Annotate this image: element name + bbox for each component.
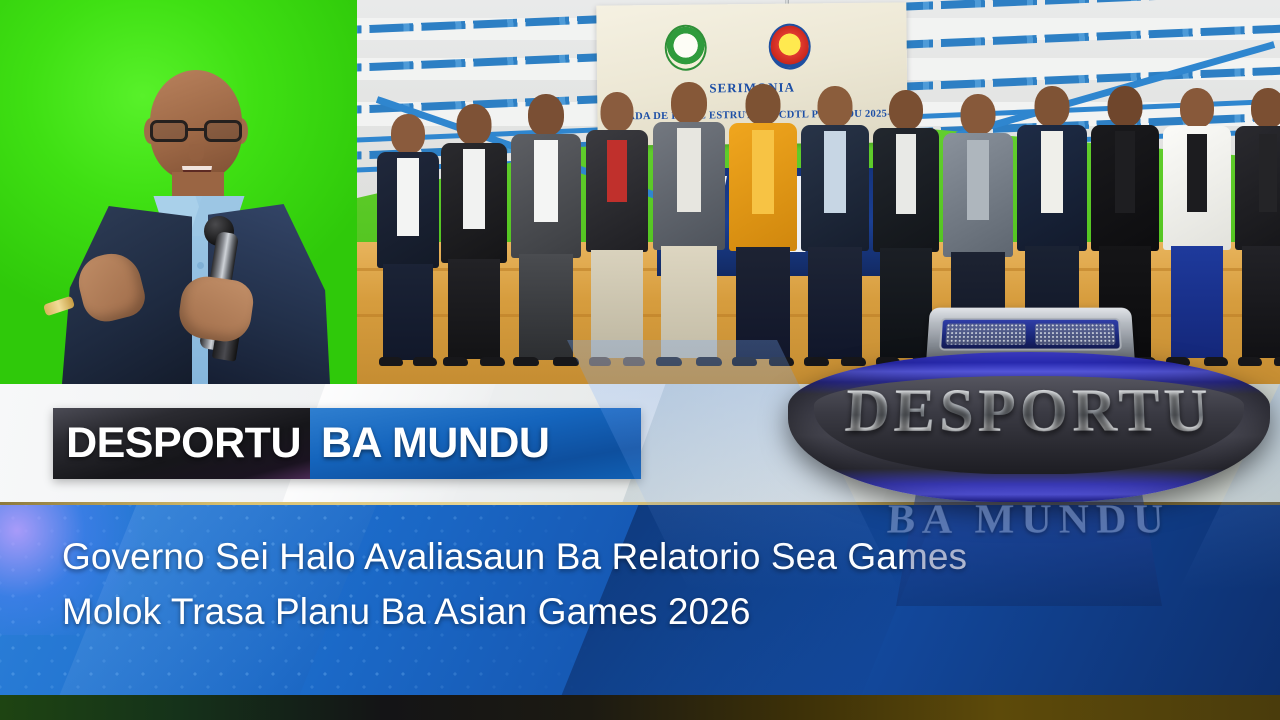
program-title-primary-block: DESPORTU <box>53 408 310 479</box>
logo-mesh-left <box>945 324 1026 345</box>
logo-crown-inset <box>939 318 1122 351</box>
logo-mesh-right <box>1035 324 1116 345</box>
person-04 <box>583 92 651 366</box>
person-05 <box>651 82 727 366</box>
program-title-primary-text: DESPORTU <box>66 422 301 465</box>
logo-arc-body: DESPORTU <box>788 352 1270 502</box>
person-03 <box>509 94 583 366</box>
glasses-bridge <box>188 128 204 131</box>
glasses-lens-right <box>204 120 242 142</box>
presenter-nose <box>189 144 204 162</box>
presenter-glasses <box>150 120 242 142</box>
person-02 <box>439 104 509 366</box>
lower-third-bottom-strip <box>0 695 1280 720</box>
glasses-lens-left <box>150 120 188 142</box>
shirt-button-1 <box>197 262 204 269</box>
presenter-greenscreen-pane <box>0 0 357 384</box>
logo-subtitle: BA MUNDU <box>776 497 1280 544</box>
broadcast-frame: SERIMONIA TOMADA DE POSSE ESTRUTURA CDTL… <box>0 0 1280 720</box>
program-title-secondary-text: BA MUNDU <box>321 422 550 465</box>
program-title-bar: DESPORTU BA MUNDU <box>53 408 641 479</box>
desportu-3d-logo: DESPORTU BA MUNDU <box>778 300 1280 600</box>
program-title-secondary-block: BA MUNDU <box>310 408 641 479</box>
person-01 <box>375 114 441 366</box>
logo-wordmark: DESPORTU <box>785 377 1273 447</box>
